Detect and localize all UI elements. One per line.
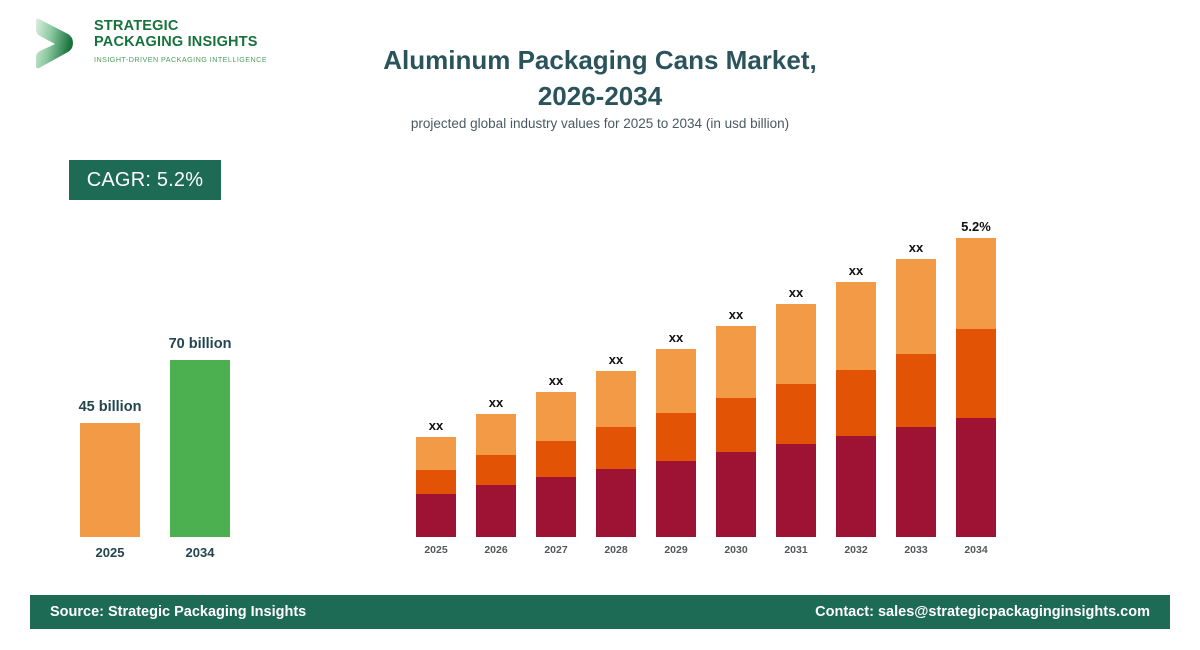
- stacked-bar-value-label: xx: [700, 307, 772, 322]
- stacked-bar: [776, 304, 816, 537]
- stacked-bar-group: xx2030: [716, 223, 756, 560]
- brand-name-line1: STRATEGIC: [94, 18, 284, 34]
- stacked-bar-segment: [416, 494, 456, 537]
- stacked-bar-segment: [596, 371, 636, 427]
- stacked-bar-category-label: 2027: [530, 544, 582, 556]
- endpoint-comparison-chart: 45 billion202570 billion2034: [40, 300, 290, 570]
- page-title: Aluminum Packaging Cans Market, 2026-203…: [300, 42, 900, 114]
- stacked-bar-segment: [956, 329, 996, 418]
- stacked-bar-group: xx2031: [776, 223, 816, 560]
- stacked-bar: [716, 326, 756, 537]
- stacked-bar-value-label: xx: [640, 330, 712, 345]
- stacked-bar-segment: [836, 282, 876, 370]
- stacked-bar-group: xx2028: [596, 223, 636, 560]
- stacked-bar-segment: [776, 444, 816, 537]
- stacked-bar: [416, 437, 456, 537]
- mini-bar-rect: [80, 423, 140, 537]
- stacked-bar-segment: [716, 326, 756, 398]
- stacked-bar-category-label: 2029: [650, 544, 702, 556]
- stacked-bar-group: xx2027: [536, 223, 576, 560]
- brand-tagline: INSIGHT-DRIVEN PACKAGING INTELLIGENCE: [94, 55, 284, 64]
- brand-wordmark: STRATEGIC PACKAGING INSIGHTS INSIGHT-DRI…: [94, 18, 284, 64]
- stacked-bar-category-label: 2026: [470, 544, 522, 556]
- stacked-bar-segment: [536, 477, 576, 537]
- infographic-root: STRATEGIC PACKAGING INSIGHTS INSIGHT-DRI…: [0, 0, 1200, 650]
- stacked-bar-segment: [656, 413, 696, 461]
- stacked-bar-segment: [836, 436, 876, 537]
- stacked-bar-segment: [416, 437, 456, 470]
- stacked-bar-segment: [716, 398, 756, 452]
- stacked-bar: [536, 392, 576, 537]
- stacked-bar-segment: [536, 441, 576, 477]
- mini-bar-group: 70 billion: [170, 360, 230, 537]
- stacked-bar-segment: [896, 427, 936, 537]
- stacked-bar-segment: [596, 427, 636, 469]
- page-title-line2: 2026-2034: [300, 78, 900, 114]
- stacked-bar-value-label: xx: [760, 285, 832, 300]
- stacked-bar-group: xx2033: [896, 223, 936, 560]
- stacked-bar: [656, 349, 696, 537]
- stacked-bar-segment: [896, 354, 936, 427]
- stacked-bar-group: xx2029: [656, 223, 696, 560]
- stacked-bar-segment: [956, 238, 996, 329]
- stacked-bar-segment: [476, 455, 516, 485]
- stacked-bar-segment: [776, 304, 816, 384]
- stacked-bar-group: xx2032: [836, 223, 876, 560]
- mini-bar-group: 45 billion: [80, 423, 140, 537]
- brand-logo: STRATEGIC PACKAGING INSIGHTS INSIGHT-DRI…: [30, 14, 280, 76]
- mini-bar-rect: [170, 360, 230, 537]
- stacked-bar-category-label: 2028: [590, 544, 642, 556]
- stacked-bar-segment: [956, 418, 996, 537]
- footer-bar: Source: Strategic Packaging Insights Con…: [30, 595, 1170, 629]
- stacked-bar-segment: [896, 259, 936, 354]
- cagr-badge: CAGR: 5.2%: [69, 160, 221, 200]
- forecast-stacked-bar-chart: xx2025xx2026xx2027xx2028xx2029xx2030xx20…: [400, 200, 1020, 560]
- stacked-bar-segment: [596, 469, 636, 537]
- stacked-bar-category-label: 2025: [410, 544, 462, 556]
- stacked-bar-segment: [656, 461, 696, 537]
- stacked-bar-category-label: 2031: [770, 544, 822, 556]
- stacked-bar: [836, 282, 876, 537]
- page-subtitle: projected global industry values for 202…: [300, 116, 900, 131]
- stacked-bar-category-label: 2034: [950, 544, 1002, 556]
- mini-bar-value-label: 45 billion: [58, 399, 162, 415]
- mini-bar-category-label: 2034: [170, 545, 230, 560]
- stacked-bar: [956, 238, 996, 537]
- stacked-bar-category-label: 2030: [710, 544, 762, 556]
- stacked-bar-value-label: xx: [460, 395, 532, 410]
- stacked-bar-value-label: xx: [400, 418, 472, 433]
- footer-source: Source: Strategic Packaging Insights: [50, 595, 306, 629]
- stacked-bar-category-label: 2032: [830, 544, 882, 556]
- stacked-bar: [596, 371, 636, 537]
- stacked-bar-segment: [716, 452, 756, 537]
- stacked-bar-segment: [776, 384, 816, 444]
- stacked-bar-category-label: 2033: [890, 544, 942, 556]
- green-chevron-logo-icon: [34, 17, 86, 71]
- stacked-bar-segment: [656, 349, 696, 413]
- stacked-bar: [896, 259, 936, 537]
- page-title-line1: Aluminum Packaging Cans Market,: [300, 42, 900, 78]
- stacked-bar-group: xx2026: [476, 223, 516, 560]
- stacked-bar-group: xx2025: [416, 223, 456, 560]
- stacked-bar-value-label: xx: [520, 373, 592, 388]
- stacked-bar: [476, 414, 516, 537]
- stacked-bar-segment: [476, 414, 516, 455]
- stacked-bar-segment: [536, 392, 576, 441]
- stacked-bar-segment: [836, 370, 876, 436]
- footer-contact: Contact: sales@strategicpackaginginsight…: [815, 595, 1150, 629]
- stacked-bar-group: 5.2%2034: [956, 223, 996, 560]
- stacked-bar-value-label: xx: [880, 240, 952, 255]
- stacked-bar-segment: [416, 470, 456, 494]
- stacked-bar-value-label: 5.2%: [940, 219, 1012, 234]
- mini-bar-category-label: 2025: [80, 545, 140, 560]
- brand-name-line2: PACKAGING INSIGHTS: [94, 34, 284, 50]
- mini-bar-value-label: 70 billion: [148, 336, 252, 352]
- stacked-bar-value-label: xx: [580, 352, 652, 367]
- stacked-bar-segment: [476, 485, 516, 537]
- stacked-bar-value-label: xx: [820, 263, 892, 278]
